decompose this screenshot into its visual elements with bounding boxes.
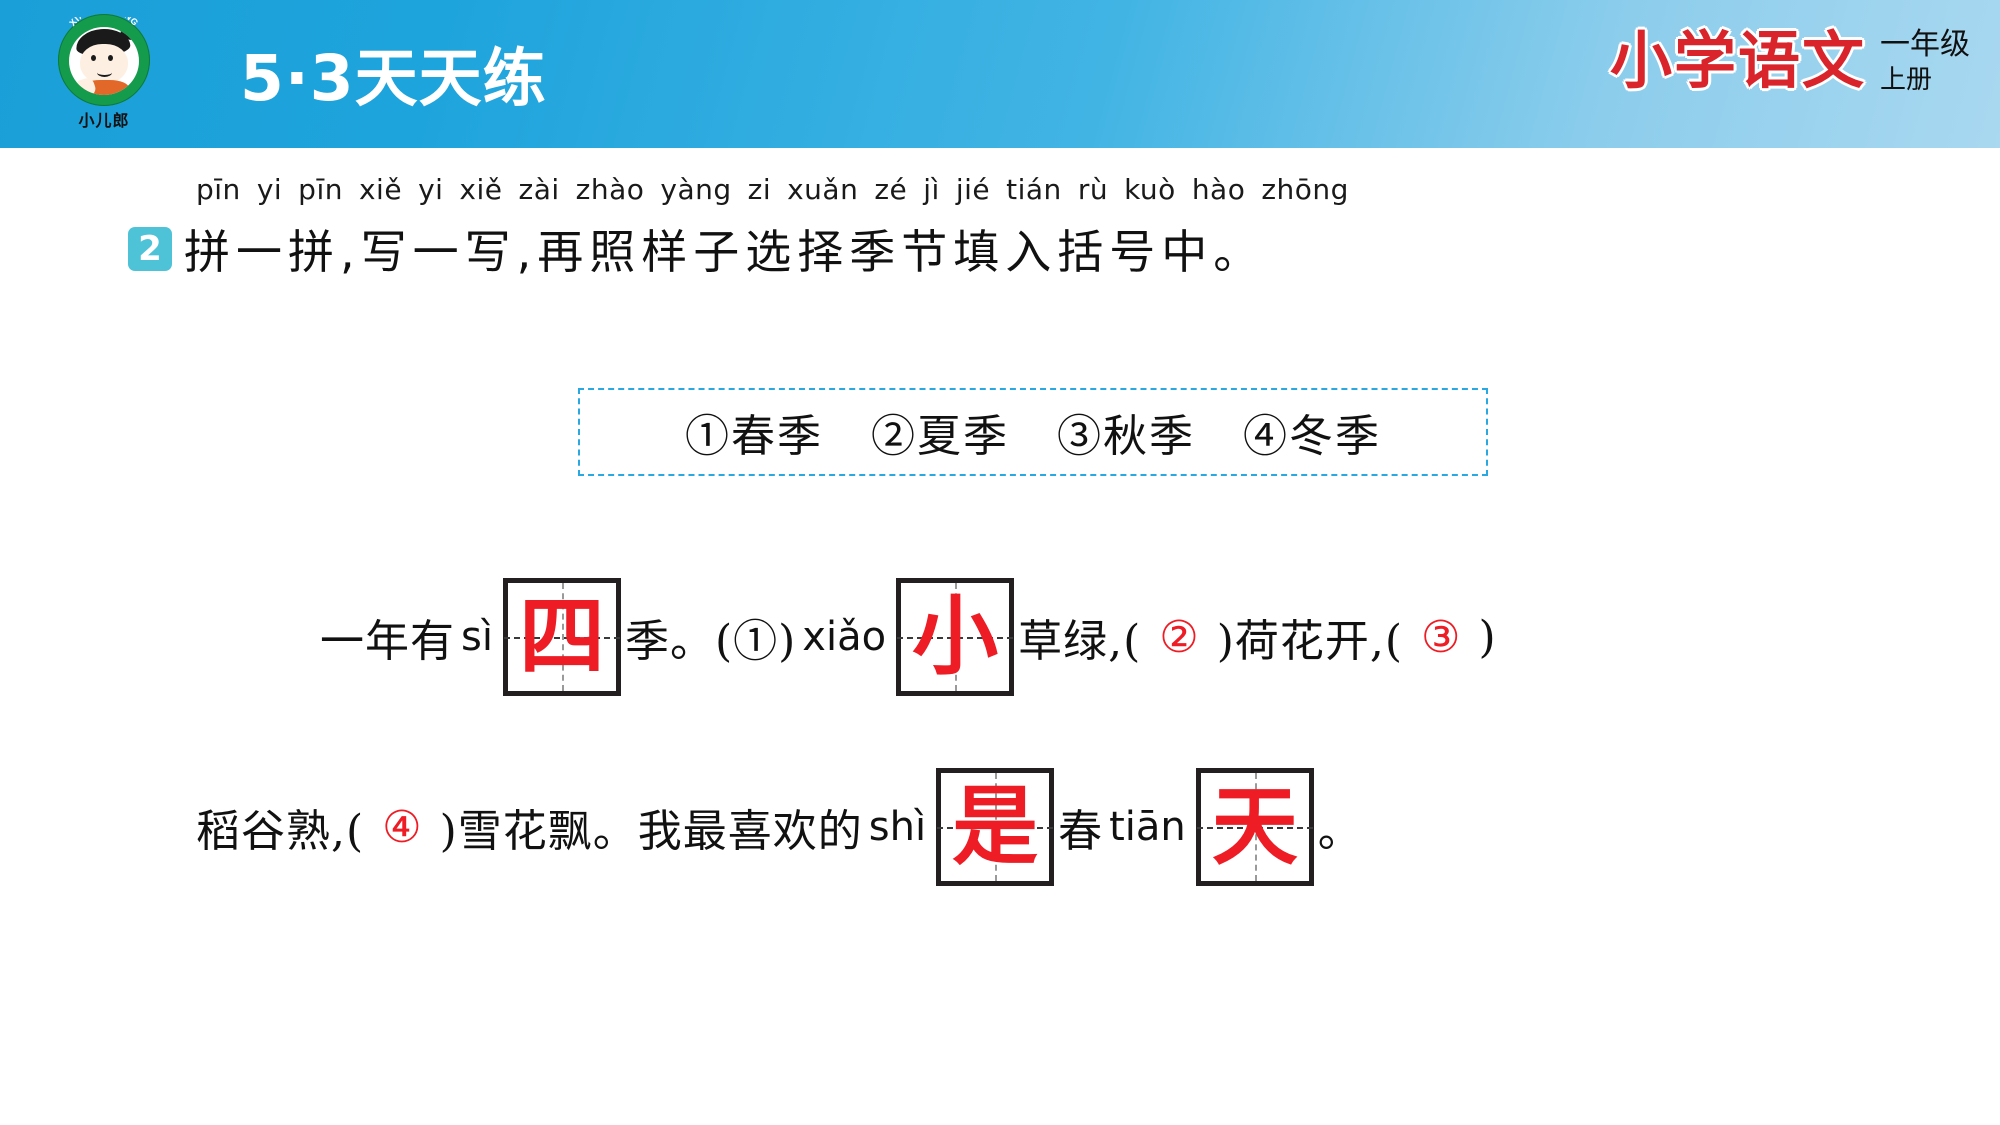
brand-title: 5·3天天练 [240,28,547,119]
sentence-text: )荷花开,( [1217,605,1403,669]
handwritten-answer-character: 天 [1201,773,1309,881]
character-practice-box[interactable]: 四 [503,578,621,696]
pinyin-token: xuǎn [787,173,858,206]
pinyin-token: jì [923,173,940,206]
handwritten-answer-character: 四 [508,583,616,691]
handwritten-answer-character: 是 [941,773,1049,881]
character-practice-box[interactable]: 小 [896,578,1014,696]
question-heading: 2 拼一拼,写一写,再照样子选择季节填入括号中。 [128,216,1265,282]
eye-right [108,55,113,61]
option-item[interactable]: ④冬季 [1243,411,1381,462]
answer-line-1: 一年有sì四季。(①)xiǎo小草绿,(②)荷花开,(③) [320,578,1497,696]
pinyin-token: zhào [576,173,645,206]
publisher-logo: XIAO ER LANG 小儿郎 [52,14,156,134]
pinyin-hint: shì [869,804,926,850]
sentence-text: )雪花飘。我最喜欢的 [440,795,863,859]
pinyin-token: yi [418,173,443,206]
boy-mascot-icon: XIAO ER LANG [58,14,150,106]
question-text: 拼一拼,写一写,再照样子选择季节填入括号中。 [184,216,1265,282]
answer-choice-filled[interactable]: ③ [1403,612,1478,663]
answer-line-2: 稻谷熟,(④)雪花飘。我最喜欢的shì是春tiān天。 [196,768,1363,886]
pinyin-token: jié [956,173,990,206]
sentence-text: 。 [1318,795,1363,859]
pinyin-hint: sì [461,614,493,660]
pinyin-token: pīn [196,173,241,206]
pinyin-token: xiě [359,173,402,206]
question-pinyin-row: pīnyipīnxiěyixiězàizhàoyàngzixuǎnzéjìjié… [196,173,1365,206]
character-practice-box[interactable]: 天 [1196,768,1314,886]
answer-choice-filled[interactable]: ② [1141,612,1216,663]
sentence-text: 草绿,( [1018,605,1141,669]
pinyin-hint: xiǎo [802,614,886,660]
answer-choice-filled[interactable]: ④ [364,802,439,853]
worksheet-body: pīnyipīnxiěyixiězàizhàoyàngzixuǎnzéjìjié… [0,148,2000,1125]
pinyin-token: zi [748,173,771,206]
option-item[interactable]: ②夏季 [871,411,1009,462]
subject-title: 小学语文 [1610,18,1866,92]
pinyin-token: hào [1192,173,1246,206]
handwritten-answer-character: 小 [901,583,1009,691]
sentence-text: 一年有 [320,605,455,669]
options-list: ①春季②夏季③秋季④冬季 [661,400,1405,464]
question-number-badge: 2 [128,227,172,271]
grade-level: 一年级 [1880,26,1970,64]
pinyin-token: kuò [1124,173,1176,206]
sentence-text: 稻谷熟,( [196,795,364,859]
pinyin-token: zài [519,173,560,206]
subject-block: 小学语文 一年级 上册 [1610,18,1970,96]
options-box: ①春季②夏季③秋季④冬季 [578,388,1488,476]
sentence-text: 季。(①) [625,605,796,669]
pinyin-token: xiě [459,173,502,206]
pinyin-token: zhōng [1261,173,1349,206]
logo-caption: 小儿郎 [52,107,156,131]
option-item[interactable]: ①春季 [685,411,823,462]
pinyin-token: pīn [298,173,343,206]
eye-left [91,55,96,61]
pinyin-token: yi [257,173,282,206]
sentence-text: 春 [1058,795,1103,859]
character-practice-box[interactable]: 是 [936,768,1054,886]
pinyin-token: zé [874,173,907,206]
page-header: XIAO ER LANG 小儿郎 5·3天天练 小学语文 一年级 上册 [0,0,2000,148]
pinyin-token: tián [1006,173,1062,206]
mouth-shape [97,68,112,77]
pinyin-token: rù [1078,173,1108,206]
sentence-text: ) [1478,612,1496,663]
pinyin-hint: tiān [1109,804,1186,850]
option-item[interactable]: ③秋季 [1057,411,1195,462]
pinyin-token: yàng [660,173,731,206]
mascot-face [69,27,139,95]
grade-block: 一年级 上册 [1880,18,1970,96]
grade-volume: 上册 [1880,64,1970,97]
